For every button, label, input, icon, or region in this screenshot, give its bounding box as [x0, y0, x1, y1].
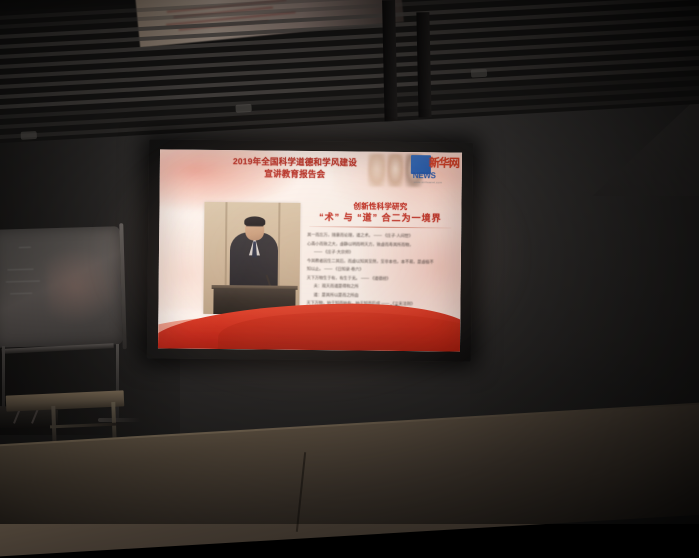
whiteboard-foot [98, 418, 140, 422]
conference-title: 2019年全国科学道德和学风建设 宣讲教育报告会 [220, 155, 370, 181]
whiteboard-leg [116, 344, 119, 422]
slide-title-line1: 创新性科学研究 [307, 201, 453, 213]
wall-shadow-right [470, 95, 699, 435]
portrait-icon [386, 154, 404, 187]
logo-url-text: www.xinhuanet.com [414, 180, 442, 184]
slide-body-line: —— 《庄子·大宗师》 [307, 249, 453, 257]
ceiling-support-beam-2 [416, 12, 431, 117]
logo-en-name: NEWS [413, 171, 436, 180]
ceiling-support-beam [382, 0, 398, 130]
slide-red-wave-footer [158, 300, 460, 351]
presentation-slide: 2019年全国科学道德和学风建设 宣讲教育报告会 新华网 NEWS www.xi… [158, 149, 462, 351]
slide-body-line: 今其教者因生二其后，而虚以知其至然，至非本也，本不易，是虚极不 [307, 257, 453, 265]
slide-body-line: 其一而忘万，措意而论理，道之术。 —— 《庄子·人间世》 [307, 232, 453, 240]
screen-surface: 2019年全国科学道德和学风建设 宣讲教育报告会 新华网 NEWS www.xi… [158, 149, 462, 351]
speaker-photo [203, 202, 300, 315]
logo-cn-name: 新华网 [429, 154, 459, 170]
slide-title-line2: “术” 与 “道” 合二为一境界 [307, 212, 453, 224]
slide-banner: 2019年全国科学道德和学风建设 宣讲教育报告会 新华网 NEWS www.xi… [160, 149, 462, 192]
whiteboard-surface [0, 226, 123, 348]
slide-body-line: 天下万物生于有，有生于无。 —— 《道德经》 [307, 274, 453, 282]
lecture-hall-scene: 2019年全国科学道德和学风建设 宣讲教育报告会 新华网 NEWS www.xi… [0, 0, 699, 524]
ceiling-light [471, 69, 487, 78]
whiteboard-reflection [46, 248, 119, 325]
slide-body-line: 夫：观天而道是得和之所 [307, 283, 453, 291]
whiteboard [0, 226, 123, 348]
slide-body-line: 道：是其所以是而之所由 [307, 291, 453, 299]
portrait-icon [368, 154, 386, 187]
glasses-icon [246, 225, 263, 229]
conference-title-line1: 2019年全国科学道德和学风建设 [220, 155, 370, 169]
ceiling-light [235, 104, 251, 113]
ceiling-light [21, 131, 37, 140]
slide-body-line: 知以止。 —— 《日知录·卷六》 [307, 266, 453, 274]
slide-text-column: 创新性科学研究 “术” 与 “道” 合二为一境界 其一而忘万，措意而论理，道之术… [306, 201, 453, 310]
projection-screen[interactable]: 2019年全国科学道德和学风建设 宣讲教育报告会 新华网 NEWS www.xi… [147, 139, 473, 361]
conference-title-line2: 宣讲教育报告会 [220, 167, 370, 181]
xinhua-news-logo: 新华网 NEWS www.xinhuanet.com [411, 154, 459, 185]
title-divider [309, 226, 451, 228]
slide-body-line: 心斋小而致之大，虚静以明而明天方，致虚而寿其所而物， [307, 240, 453, 248]
